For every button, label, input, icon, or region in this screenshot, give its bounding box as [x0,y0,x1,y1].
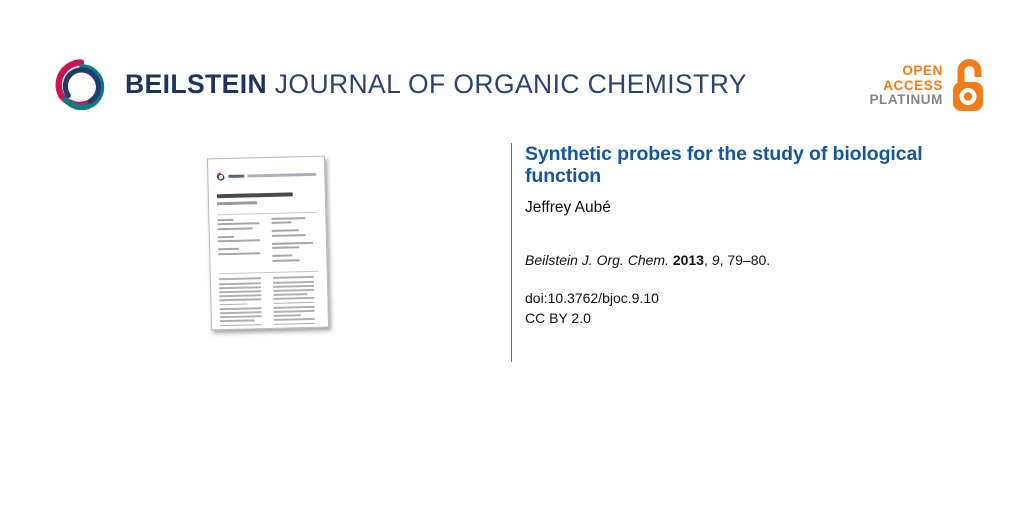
article-doi[interactable]: doi:10.3762/bjoc.9.10 [525,289,995,309]
open-access-line-platinum: PLATINUM [869,93,943,108]
open-access-label-group: OPEN ACCESS PLATINUM [869,64,943,108]
open-access-unlocked-padlock-icon [950,58,992,114]
article-metadata: Synthetic probes for the study of biolog… [525,144,995,329]
thumbnail-meta-line [218,222,260,225]
citation-year: 2013 [673,252,704,268]
thumbnail-body-columns [219,276,321,330]
thumbnail-meta-line [218,227,253,230]
thumbnail-header-text [247,173,316,178]
article-license[interactable]: CC BY 2.0 [525,309,995,329]
article-title[interactable]: Synthetic probes for the study of biolog… [525,144,995,188]
thumbnail-subtitle-line [217,201,257,204]
thumbnail-title-line [217,192,293,198]
thumbnail-meta-line [218,248,239,251]
thumbnail-meta-line [272,247,300,250]
thumbnail-meta-line [218,236,234,238]
thumbnail-meta-line [271,242,313,245]
thumbnail-metadata-block [217,216,318,265]
thumbnail-body-column-left [219,278,267,331]
thumbnail-header-mark [228,175,244,178]
journal-brand[interactable]: BEILSTEIN JOURNAL OF ORGANIC CHEMISTRY [52,56,747,114]
thumbnail-header [216,170,316,181]
citation-volume: 9 [712,252,720,268]
thumbnail-metadata-right [271,216,319,264]
thumbnail-body-column-right [272,276,320,330]
thumbnail-meta-line [271,217,306,220]
article-author[interactable]: Jeffrey Aubé [525,199,995,217]
beilstein-circle-logo-icon [52,56,110,114]
journal-wordmark: BEILSTEIN JOURNAL OF ORGANIC CHEMISTRY [125,71,747,100]
wordmark-beilstein: BEILSTEIN [125,69,267,99]
thumbnail-meta-line [272,259,300,262]
citation-sep-2: , [704,252,712,268]
open-access-line-open: OPEN [869,64,943,79]
thumbnail-meta-line [271,234,306,237]
wordmark-journal-of-organic-chemistry: JOURNAL OF ORGANIC CHEMISTRY [267,69,747,99]
thumbnail-rule-bottom [219,271,319,274]
thumbnail-meta-line [217,218,233,220]
thumbnail-meta-line [271,229,299,232]
thumbnail-meta-line [218,239,260,242]
masthead: BEILSTEIN JOURNAL OF ORGANIC CHEMISTRY O… [0,0,1024,140]
thumbnail-meta-line [218,252,260,255]
article-thumbnail-page [207,156,329,331]
thumbnail-rule-top [217,211,317,214]
beilstein-circle-logo-small-icon [216,172,225,181]
citation-journal-name: Beilstein J. Org. Chem. [525,252,669,268]
thumbnail-metadata-left [217,218,265,266]
article-citation: Beilstein J. Org. Chem. 2013, 9, 79–80. [525,251,995,269]
vertical-divider-rule [511,143,512,362]
citation-pages: 79–80. [727,252,770,268]
thumbnail-meta-line [271,222,292,225]
open-access-badge[interactable]: OPEN ACCESS PLATINUM [869,58,992,114]
open-access-line-access: ACCESS [869,79,943,94]
thumbnail-meta-line [272,255,293,258]
article-thumbnail[interactable] [209,157,335,339]
